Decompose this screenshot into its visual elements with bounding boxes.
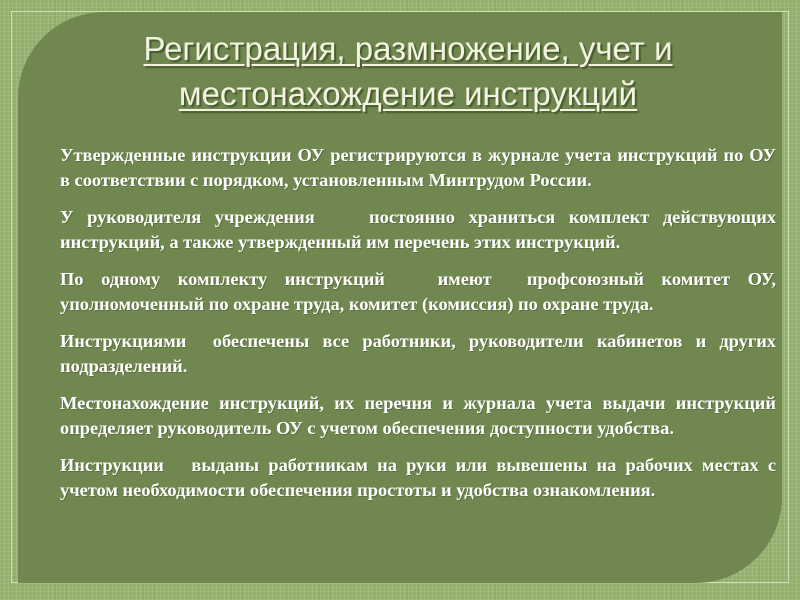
body-paragraph-5: Местонахождение инструкций, их перечня и… [60, 391, 776, 440]
slide-content-panel: Регистрация, размножение, учет и местона… [18, 12, 782, 583]
presentation-slide: Регистрация, размножение, учет и местона… [0, 0, 800, 600]
body-paragraph-1: Утвержденные инструкции ОУ регистрируютс… [60, 143, 776, 192]
body-paragraph-3: По одному комплекту инструкций имеют про… [60, 267, 776, 316]
slide-title-line-2: местонахождение инструкций [58, 71, 758, 116]
slide-body: Утвержденные инструкции ОУ регистрируютс… [60, 143, 776, 502]
body-paragraph-2: У руководителя учреждения постоянно хран… [60, 205, 776, 254]
body-paragraph-6: Инструкции выданы работникам на руки или… [60, 453, 776, 502]
slide-title-line-1: Регистрация, размножение, учет и [58, 26, 758, 71]
body-paragraph-4: Инструкциями обеспечены все работники, р… [60, 329, 776, 378]
slide-title: Регистрация, размножение, учет и местона… [58, 26, 758, 116]
